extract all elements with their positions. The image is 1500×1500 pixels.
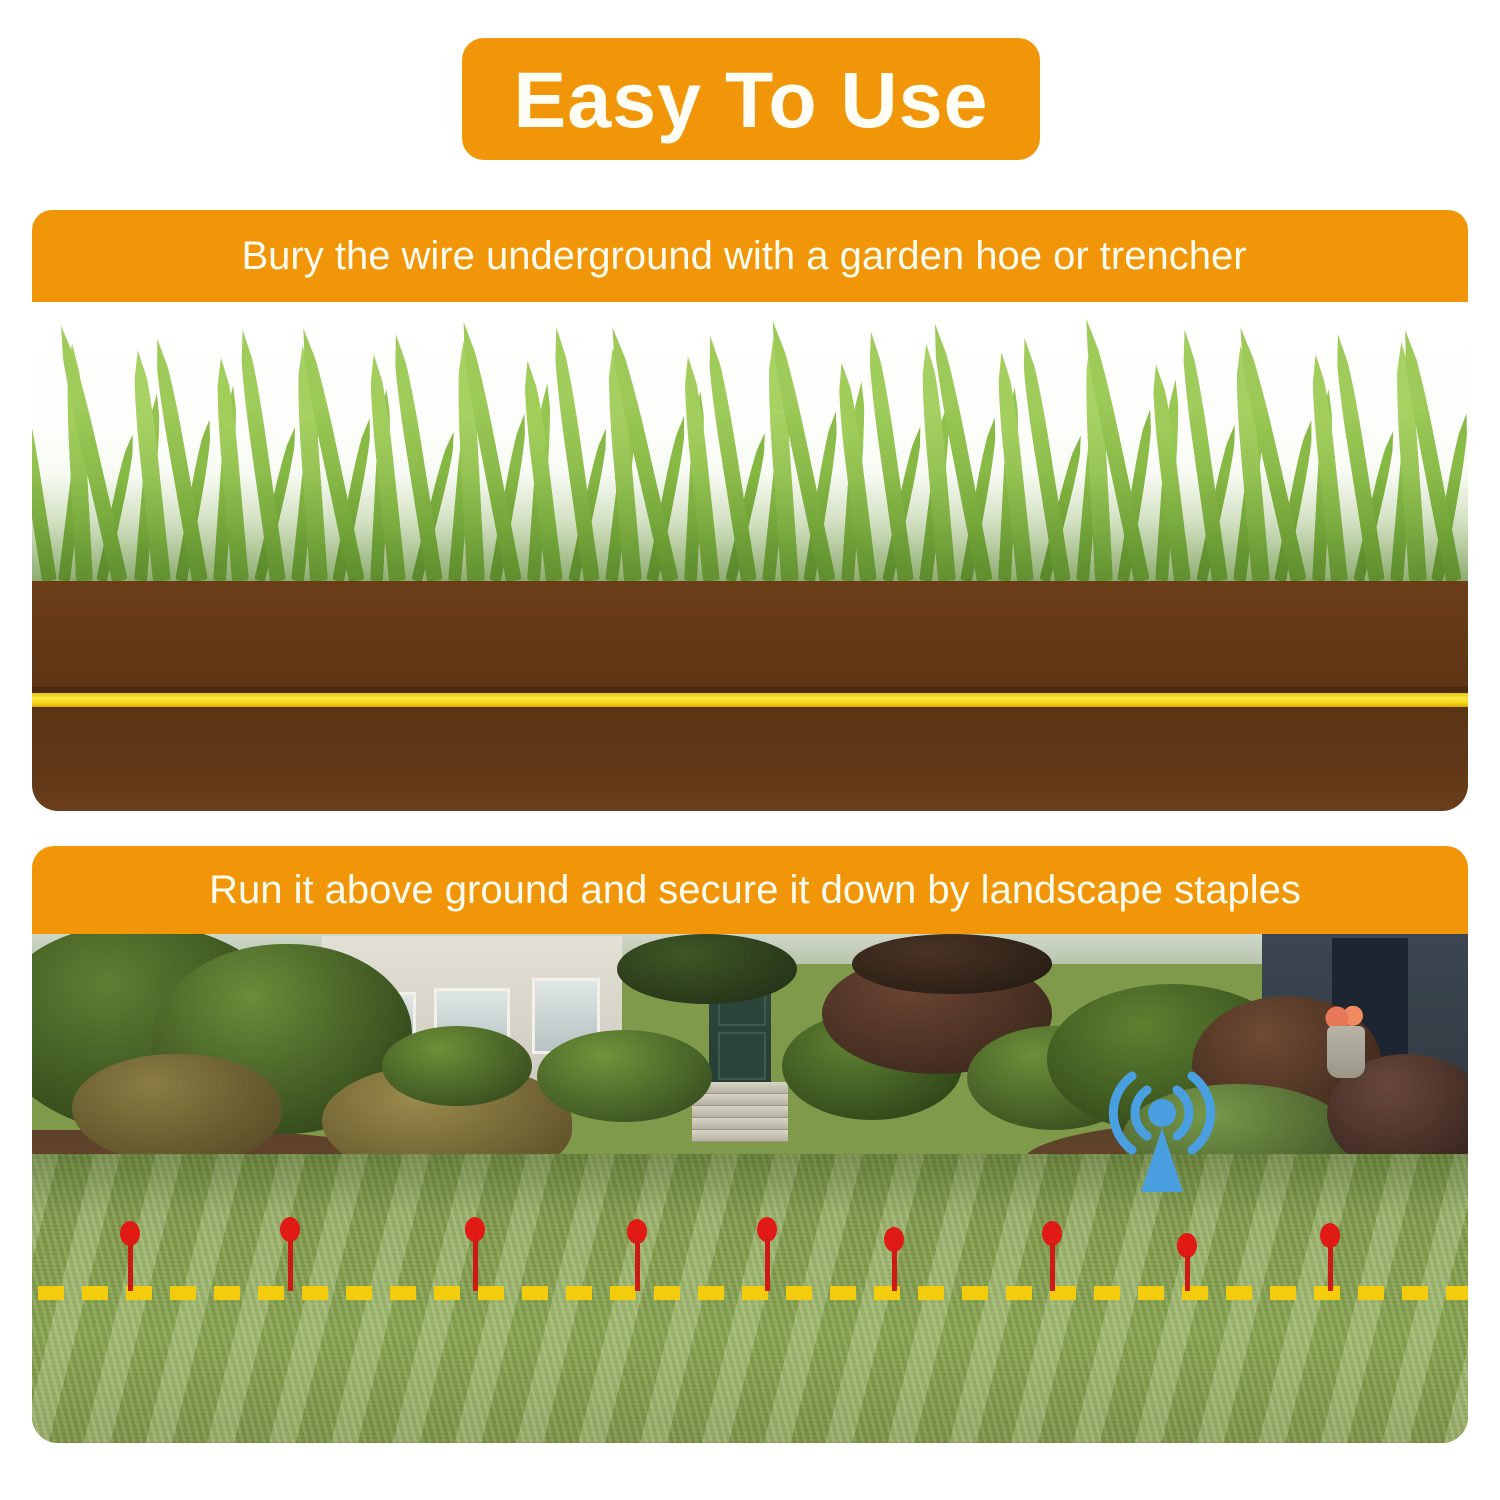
staple-stem	[892, 1249, 897, 1291]
caption-bar-staple: Run it above ground and secure it down b…	[32, 846, 1468, 934]
staple-stem	[128, 1243, 133, 1291]
landscape-staple	[1040, 1221, 1064, 1294]
soil-lower-layer	[32, 707, 1468, 811]
caption-text-bury: Bury the wire underground with a garden …	[32, 234, 1468, 279]
landscape-staple	[463, 1217, 487, 1294]
staple-stem	[765, 1239, 770, 1291]
landscape-staple	[625, 1219, 649, 1294]
grass-blade	[32, 374, 57, 581]
yard-photograph	[32, 934, 1468, 1443]
staple-stem	[635, 1241, 640, 1291]
buried-boundary-wire	[32, 693, 1468, 707]
staple-stem	[1328, 1245, 1333, 1291]
landscape-staple	[1318, 1223, 1342, 1294]
step-panel-bury-wire: Bury the wire underground with a garden …	[32, 210, 1468, 811]
page-title: Easy To Use	[514, 60, 989, 139]
staple-stem	[1050, 1243, 1055, 1291]
soil-upper-layer	[32, 581, 1468, 687]
soil-cross-section-illustration	[32, 302, 1468, 811]
surface-boundary-wire	[38, 1286, 1468, 1300]
landscape-staple	[882, 1227, 906, 1294]
staple-stem	[473, 1239, 478, 1291]
staple-stem	[288, 1239, 293, 1291]
caption-text-staple: Run it above ground and secure it down b…	[32, 868, 1468, 913]
staple-stem	[1185, 1255, 1190, 1291]
landscape-staple-overlay	[32, 934, 1468, 1443]
landscape-staple	[278, 1217, 302, 1294]
grass-layer	[32, 302, 1468, 581]
page-title-badge: Easy To Use	[462, 38, 1040, 160]
step-panel-staple-wire: Run it above ground and secure it down b…	[32, 846, 1468, 1443]
landscape-staple	[118, 1221, 142, 1294]
landscape-staple	[1175, 1233, 1199, 1294]
caption-bar-bury: Bury the wire underground with a garden …	[32, 210, 1468, 302]
landscape-staple	[755, 1217, 779, 1294]
